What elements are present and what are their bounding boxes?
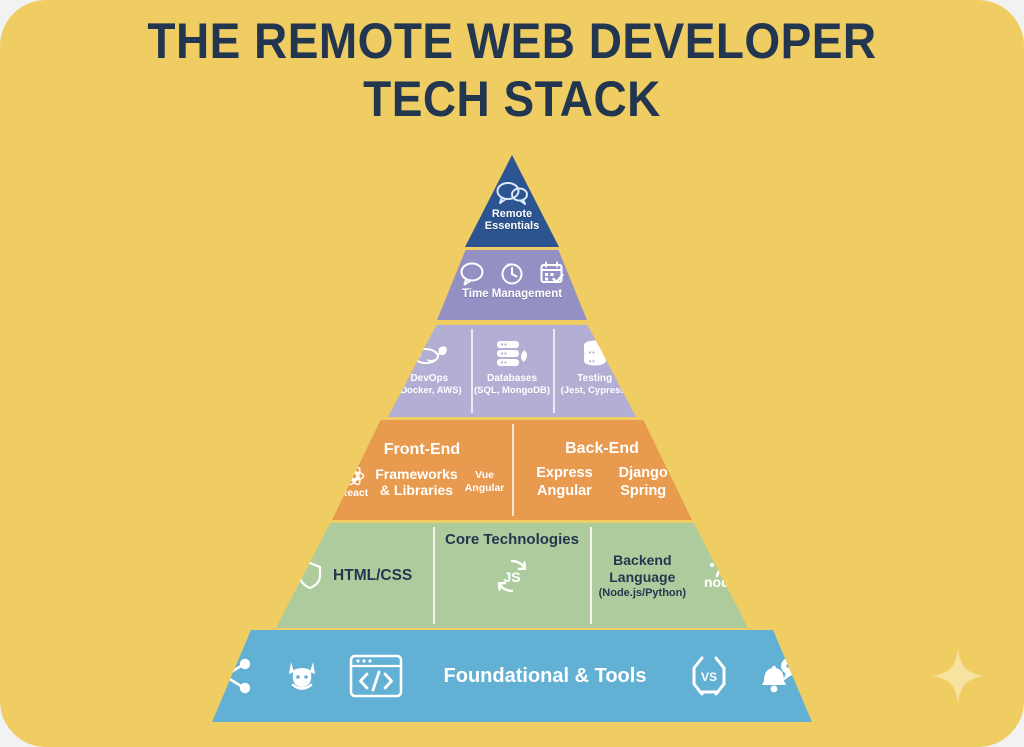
react-atom-icon <box>343 465 365 487</box>
tier-label-line2: Essentials <box>485 220 539 232</box>
tier-time-management[interactable]: Time Management <box>437 250 587 320</box>
docker-whale-icon <box>408 335 450 373</box>
tier-foundational-tools[interactable]: Foundational & Tools VS <box>212 630 812 722</box>
backend-label-express: Express <box>536 464 592 482</box>
vs-code-icon: VS <box>686 654 732 698</box>
cell-back-end[interactable]: Back-End Express Angular Django Spring <box>512 420 692 520</box>
cell-divider <box>553 329 555 413</box>
backend-label-spring: Spring <box>620 482 666 500</box>
backend-label-django: Django <box>619 464 668 482</box>
code-window-icon <box>348 653 404 699</box>
backend-language-subtitle: (Node.js/Python) <box>599 586 686 600</box>
svg-text:JS: JS <box>503 569 520 585</box>
database-stack-icon <box>491 335 533 373</box>
cell-heading: Core Technologies <box>445 531 579 548</box>
tier-remote-essentials[interactable]: Remote Essentials <box>465 155 559 247</box>
frameworks-line2: & Libraries <box>380 482 453 498</box>
svg-text:nod: nod <box>704 574 730 590</box>
cell-heading: Front-End <box>384 441 460 459</box>
cell-subtitle: (Docker, AWS) <box>397 385 462 397</box>
backend-language-line2: Language <box>609 569 675 586</box>
framework-label-angular: Angular <box>465 482 505 495</box>
cell-testing[interactable]: Testing (Jest, Cypress) <box>553 325 636 417</box>
cell-subtitle: (Jest, Cypress) <box>561 385 629 397</box>
chat-bubble-icon <box>459 260 485 286</box>
cell-html-css[interactable]: HTML/CSS <box>276 523 433 628</box>
cell-label-html-css: HTML/CSS <box>333 567 412 585</box>
gitlab-fox-icon <box>282 656 322 696</box>
pyramid-diagram: Remote Essentials <box>0 0 1024 747</box>
backend-language-line1: Backend <box>613 552 671 569</box>
cell-time-management[interactable]: Time Management <box>437 250 587 320</box>
tier-devops-databases-testing[interactable]: DevOps (Docker, AWS) <box>388 325 636 417</box>
backend-label-angular: Angular <box>537 482 592 500</box>
tier-label-foundational-tools: Foundational & Tools <box>444 665 647 688</box>
database-icon <box>577 335 613 373</box>
cell-title: Testing <box>577 373 612 385</box>
calendar-check-icon <box>539 260 565 286</box>
cell-divider <box>433 527 435 624</box>
tier-label: Time Management <box>462 288 562 300</box>
cell-heading: Back-End <box>565 440 639 458</box>
frameworks-line1: Frameworks <box>375 466 457 482</box>
nodejs-icon: nod <box>696 555 740 597</box>
four-point-star-icon <box>930 647 986 705</box>
git-share-icon <box>216 657 256 695</box>
framework-label-react: React <box>340 487 369 500</box>
cell-subtitle: (SQL, MongoDB) <box>474 385 550 397</box>
cell-devops[interactable]: DevOps (Docker, AWS) <box>388 325 471 417</box>
cell-backend-language[interactable]: Backend Language (Node.js/Python) nod <box>591 523 748 628</box>
cell-core-technologies[interactable]: Core Technologies JS <box>433 523 590 628</box>
time-management-icons <box>459 260 565 286</box>
tier-label-line1: Remote <box>492 208 532 220</box>
javascript-refresh-icon: JS <box>492 556 532 596</box>
cell-divider <box>471 329 473 413</box>
cell-remote-essentials[interactable]: Remote Essentials <box>465 155 559 247</box>
cell-front-end[interactable]: Front-End React <box>332 420 512 520</box>
framework-label-vue: Vue <box>475 469 494 482</box>
tier-core-technologies[interactable]: HTML/CSS Core Technologies JS <box>276 523 748 628</box>
svg-text:VS: VS <box>701 670 717 684</box>
infographic-canvas: THE REMOTE WEB DEVELOPER TECH STACK <box>0 0 1024 747</box>
cell-title: DevOps <box>410 373 448 385</box>
shield-icon <box>297 561 323 591</box>
notification-chat-icon <box>758 653 808 699</box>
cell-divider <box>512 424 514 516</box>
cell-divider <box>590 527 592 624</box>
tier-frontend-backend[interactable]: Front-End React <box>332 420 692 520</box>
clock-icon <box>499 260 525 286</box>
chat-bubbles-icon <box>495 181 529 205</box>
cell-databases[interactable]: Databases (SQL, MongoDB) <box>471 325 554 417</box>
cell-title: Databases <box>487 373 537 385</box>
